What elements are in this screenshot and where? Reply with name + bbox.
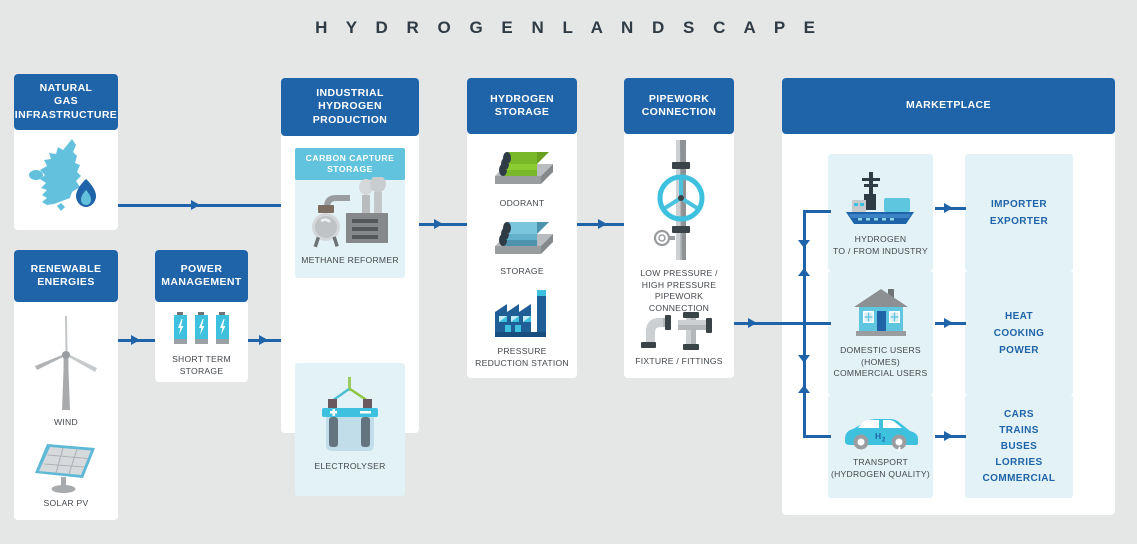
subcard-header-carbon-capture-storage: CARBON CAPTURE STORAGE (295, 148, 405, 180)
odorant-tanks-icon (487, 150, 557, 196)
caption-wind: WIND (14, 417, 118, 429)
header-line: RENEWABLE (31, 263, 102, 277)
hydrogen-car-icon: H 2 (841, 409, 921, 451)
marketplace-bus-branch-middle (803, 322, 831, 325)
house-icon (850, 285, 912, 339)
header-line: MARKETPLACE (906, 99, 991, 113)
caption-odorant: ODORANT (467, 198, 577, 210)
panel-pipework-connection: PIPEWORK CONNECTION LOW PRESSURE / HIGH … (624, 78, 734, 378)
target-line: COMMERCIAL (965, 471, 1073, 487)
cargo-ship-icon (844, 172, 918, 228)
header-line: INFRASTRUCTURE (15, 109, 117, 123)
panel-header-hydrogen-storage: HYDROGEN STORAGE (467, 78, 577, 134)
pipe-fittings-icon (640, 306, 718, 350)
header-line: STORAGE (495, 106, 550, 120)
electrolyser-icon (314, 377, 386, 455)
panel-header-pipework-connection: PIPEWORK CONNECTION (624, 78, 734, 134)
marketplace-target-label: CARS TRAINS BUSES LORRIES COMMERCIAL (965, 407, 1073, 487)
header-line: ENERGIES (37, 276, 94, 290)
caption-text: STORAGE (180, 366, 224, 376)
header-line: MANAGEMENT (161, 276, 241, 290)
target-line: LORRIES (965, 455, 1073, 471)
caption-methane-reformer: METHANE REFORMER (295, 255, 405, 267)
caption-text: PRESSURE (497, 346, 546, 356)
panel-marketplace: MARKETPLACE (782, 78, 1115, 515)
arrow-ship-to-importer-head (944, 203, 953, 213)
marketplace-target-label: IMPORTER EXPORTER (965, 196, 1073, 230)
target-line: BUSES (965, 439, 1073, 455)
arrow-gas-to-production-head (191, 200, 200, 210)
target-line: POWER (965, 342, 1073, 359)
target-line: IMPORTER (965, 196, 1073, 213)
arrow-production-to-storage-head (434, 219, 443, 229)
caption-text: COMMERCIAL USERS (834, 368, 928, 378)
caption-transport: TRANSPORT (HYDROGEN QUALITY) (828, 457, 933, 480)
caption-text: DOMESTIC USERS (840, 345, 921, 355)
caption-text: TRANSPORT (853, 457, 908, 467)
header-line: HYDROGEN (318, 100, 382, 114)
subheader-line: STORAGE (297, 164, 403, 175)
caption-storage: STORAGE (467, 266, 577, 278)
header-line: NATURAL (40, 82, 93, 96)
caption-text: WIND (54, 417, 78, 427)
marketplace-bus-arrow-up-2 (798, 385, 810, 393)
marketplace-bus-arrow-up-1 (798, 268, 810, 276)
caption-pressure-reduction-station: PRESSURE REDUCTION STATION (467, 346, 577, 369)
panel-header-power-management: POWER MANAGEMENT (155, 250, 248, 302)
marketplace-bus-arrow-down-2 (798, 355, 810, 363)
panel-industrial-hydrogen-production: INDUSTRIAL HYDROGEN PRODUCTION CARBON CA… (281, 78, 419, 433)
header-line: PIPEWORK (649, 93, 709, 107)
arrow-house-to-heat-head (944, 318, 953, 328)
subcard-electrolyser: ELECTROLYSER (295, 363, 405, 496)
caption-text: METHANE REFORMER (301, 255, 399, 265)
caption-text: SHORT TERM (172, 354, 231, 364)
arrow-pipework-to-marketplace-head (748, 318, 757, 328)
arrow-car-to-cars-head (944, 431, 953, 441)
marketplace-target-card-heat-cooking-power: HEAT COOKING POWER (965, 271, 1073, 395)
arrow-power-to-electrolyser-head (259, 335, 268, 345)
panel-header-natural-gas: NATURAL GAS INFRASTRUCTURE (14, 74, 118, 130)
page-title: H Y D R O G E N L A N D S C A P E (0, 18, 1137, 38)
subcard-carbon-capture-storage: CARBON CAPTURE STORAGE (295, 148, 405, 278)
panel-natural-gas-infrastructure: NATURAL GAS INFRASTRUCTURE (14, 74, 118, 230)
storage-tanks-icon (487, 220, 557, 266)
panel-header-renewable-energies: RENEWABLE ENERGIES (14, 250, 118, 302)
caption-text: SOLAR PV (44, 498, 89, 508)
header-line: HYDROGEN (490, 93, 554, 107)
caption-text: (HYDROGEN QUALITY) (831, 469, 930, 479)
subheader-line: CARBON CAPTURE (297, 153, 403, 164)
target-line: TRAINS (965, 423, 1073, 439)
caption-short-term-storage: SHORT TERM STORAGE (155, 354, 248, 377)
arrow-production-to-storage (419, 223, 467, 226)
caption-fixture-fittings: FIXTURE / FITTINGS (624, 356, 734, 368)
arrow-pipework-to-marketplace (734, 322, 805, 325)
caption-domestic-users: DOMESTIC USERS (HOMES) COMMERCIAL USERS (828, 345, 933, 380)
marketplace-bus-branch-top (803, 210, 831, 213)
marketplace-source-card-industry: HYDROGEN TO / FROM INDUSTRY (828, 154, 933, 271)
caption-text: FIXTURE / FITTINGS (635, 356, 723, 366)
panel-power-management: POWER MANAGEMENT SHO (155, 250, 248, 382)
svg-text:H: H (875, 431, 881, 441)
caption-text: ELECTROLYSER (314, 461, 385, 471)
marketplace-target-card-vehicles: CARS TRAINS BUSES LORRIES COMMERCIAL (965, 395, 1073, 498)
target-line: CARS (965, 407, 1073, 423)
header-line: INDUSTRIAL (316, 87, 384, 101)
caption-text: (HOMES) (861, 357, 900, 367)
panel-header-marketplace: MARKETPLACE (782, 78, 1115, 134)
battery-icon (174, 312, 230, 348)
marketplace-target-label: HEAT COOKING POWER (965, 308, 1073, 359)
wind-turbine-icon (31, 312, 101, 412)
panel-header-industrial-hydrogen-production: INDUSTRIAL HYDROGEN PRODUCTION (281, 78, 419, 136)
caption-electrolyser: ELECTROLYSER (295, 461, 405, 473)
pipe-valve-gauge-icon (646, 140, 712, 260)
caption-text: TO / FROM INDUSTRY (833, 246, 928, 256)
caption-text: REDUCTION STATION (475, 358, 569, 368)
marketplace-target-card-importer-exporter: IMPORTER EXPORTER (965, 154, 1073, 271)
arrow-storage-to-pipework-head (598, 219, 607, 229)
header-line: GAS (54, 95, 78, 109)
marketplace-source-card-domestic: DOMESTIC USERS (HOMES) COMMERCIAL USERS (828, 271, 933, 395)
target-line: HEAT (965, 308, 1073, 325)
caption-solar-pv: SOLAR PV (14, 498, 118, 510)
caption-text: HIGH PRESSURE (642, 280, 716, 290)
marketplace-bus-arrow-down-1 (798, 240, 810, 248)
caption-text: HYDROGEN (855, 234, 907, 244)
methane-reformer-icon (308, 177, 393, 249)
header-line: PRODUCTION (313, 114, 388, 128)
marketplace-bus-branch-bottom (803, 435, 831, 438)
header-line: POWER (181, 263, 223, 277)
pressure-reduction-factory-icon (493, 290, 551, 342)
panel-renewable-energies: RENEWABLE ENERGIES WIND (14, 250, 118, 520)
caption-hydrogen-industry: HYDROGEN TO / FROM INDUSTRY (828, 234, 933, 257)
caption-text: LOW PRESSURE / (640, 268, 718, 278)
arrow-renewable-to-power-head (131, 335, 140, 345)
target-line: EXPORTER (965, 213, 1073, 230)
caption-text: ODORANT (500, 198, 545, 208)
solar-panel-icon (33, 440, 99, 494)
caption-text: STORAGE (500, 266, 544, 276)
header-line: CONNECTION (642, 106, 717, 120)
uk-map-gas-flame-icon (14, 132, 118, 228)
panel-hydrogen-storage: HYDROGEN STORAGE ODORANT (467, 78, 577, 378)
marketplace-source-card-transport: H 2 TRANSPORT (HYDROGEN QUALITY) (828, 395, 933, 498)
target-line: COOKING (965, 325, 1073, 342)
